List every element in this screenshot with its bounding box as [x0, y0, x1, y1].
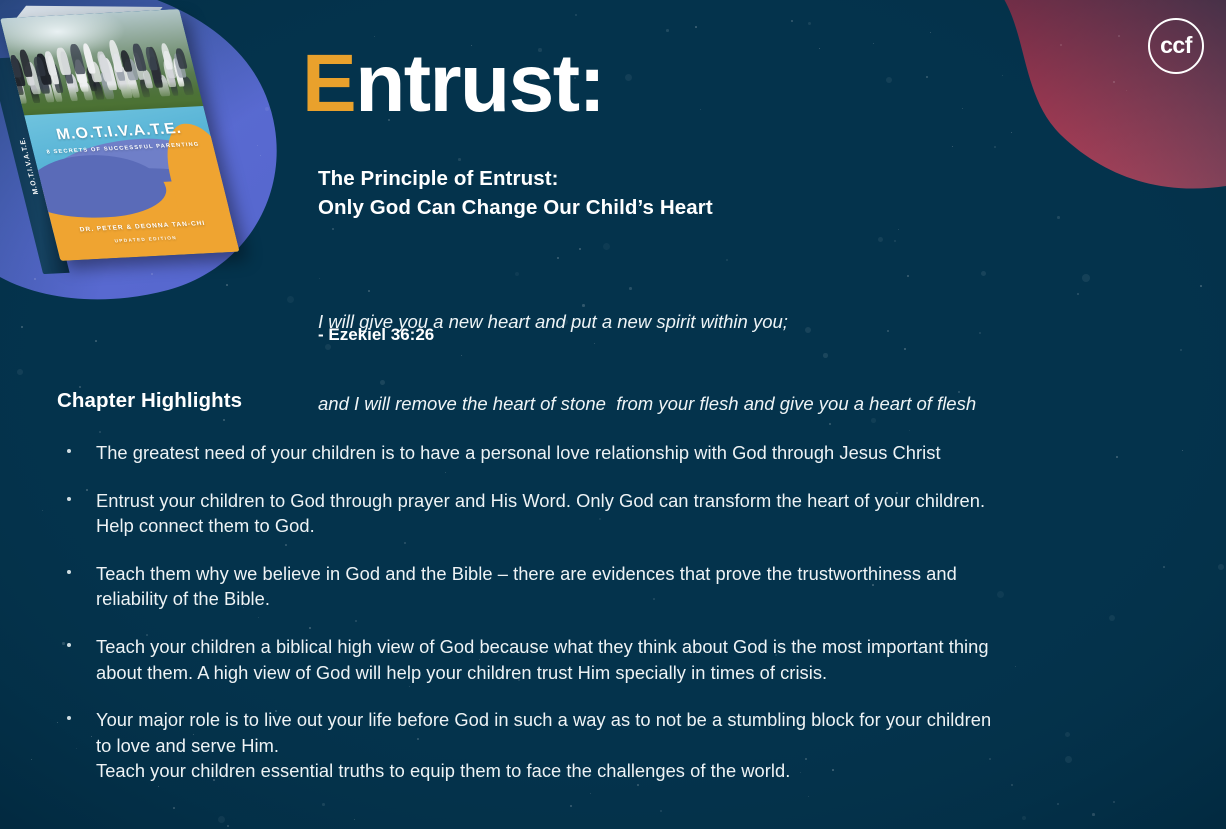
star-dot — [374, 36, 375, 37]
star-dot — [878, 237, 883, 242]
bullet-dot-icon — [67, 449, 71, 453]
list-item: Your major role is to live out your life… — [60, 707, 1180, 784]
star-dot — [354, 819, 355, 820]
star-dot — [21, 326, 23, 328]
slide-canvas: ccf M.O.T.I.V.A.T.E. M.O.T.I.V.A.T.E. 8 … — [0, 0, 1226, 829]
star-dot — [17, 369, 23, 375]
star-dot — [1118, 35, 1120, 37]
star-dot — [57, 722, 58, 723]
star-dot — [791, 20, 793, 22]
star-dot — [579, 248, 581, 250]
star-dot — [994, 146, 996, 148]
star-dot — [1057, 216, 1060, 219]
photo-figure — [159, 43, 173, 70]
star-dot — [287, 296, 294, 303]
star-dot — [1200, 285, 1202, 287]
star-dot — [1126, 90, 1127, 91]
star-dot — [173, 807, 175, 809]
star-dot — [819, 48, 820, 49]
list-item-line: about them. A high view of God will help… — [96, 660, 1180, 686]
star-dot — [226, 284, 228, 286]
verse-reference: - Ezekiel 36:26 — [318, 325, 434, 345]
list-item-line: to love and serve Him. — [96, 733, 1180, 759]
star-dot — [458, 158, 461, 161]
list-item: Entrust your children to God through pra… — [60, 488, 1180, 539]
star-dot — [99, 431, 101, 433]
list-item-line: Teach them why we believe in God and the… — [96, 561, 1180, 587]
title-accent-letter: E — [302, 38, 355, 129]
star-dot — [1002, 75, 1003, 76]
star-dot — [575, 14, 577, 16]
star-dot — [1082, 274, 1090, 282]
list-item: Teach your children a biblical high view… — [60, 634, 1180, 685]
star-dot — [886, 77, 892, 83]
star-dot — [1022, 816, 1026, 820]
star-dot — [666, 29, 669, 32]
star-dot — [695, 26, 697, 28]
book-cover-image: M.O.T.I.V.A.T.E. M.O.T.I.V.A.T.E. 8 SECR… — [0, 0, 273, 302]
star-dot — [31, 759, 32, 760]
star-dot — [981, 271, 986, 276]
list-item: The greatest need of your children is to… — [60, 440, 1180, 466]
subtitle-line-2: Only God Can Change Our Child’s Heart — [318, 193, 713, 222]
star-dot — [979, 332, 981, 334]
star-dot — [265, 107, 269, 111]
list-item-line: Entrust your children to God through pra… — [96, 488, 1180, 514]
chapter-highlights-list: The greatest need of your children is to… — [60, 440, 1180, 806]
star-dot — [332, 228, 334, 230]
star-dot — [808, 22, 811, 25]
photo-figure — [81, 82, 94, 100]
star-dot — [700, 109, 701, 110]
star-dot — [95, 340, 97, 342]
list-item-line: Help connect them to God. — [96, 513, 1180, 539]
family-photo-figures — [6, 35, 199, 100]
star-dot — [930, 32, 931, 33]
star-dot — [1113, 81, 1115, 83]
star-dot — [223, 419, 225, 421]
star-dot — [660, 810, 662, 812]
star-dot — [257, 145, 258, 146]
star-dot — [898, 229, 899, 230]
star-dot — [1077, 293, 1079, 295]
list-item-line: Teach your children a biblical high view… — [96, 634, 1180, 660]
star-dot — [603, 243, 610, 250]
photo-figure — [139, 79, 151, 97]
star-dot — [962, 108, 963, 109]
star-dot — [218, 816, 225, 823]
bullet-dot-icon — [67, 643, 71, 647]
star-dot — [1180, 349, 1182, 351]
subtitle-line-1: The Principle of Entrust: — [318, 164, 713, 193]
list-item-line: Teach your children essential truths to … — [96, 758, 1180, 784]
bullet-dot-icon — [67, 497, 71, 501]
star-dot — [873, 43, 874, 44]
star-dot — [926, 76, 928, 78]
star-dot — [1092, 813, 1095, 816]
list-item-line: reliability of the Bible. — [96, 586, 1180, 612]
star-dot — [625, 74, 632, 81]
photo-figure — [29, 84, 40, 102]
list-item: Teach them why we believe in God and the… — [60, 561, 1180, 612]
star-dot — [894, 240, 896, 242]
bullet-dot-icon — [67, 716, 71, 720]
subtitle-block: The Principle of Entrust: Only God Can C… — [318, 164, 713, 222]
section-title: Chapter Highlights — [57, 389, 242, 413]
bullet-dot-icon — [67, 570, 71, 574]
star-dot — [227, 825, 229, 827]
star-dot — [1011, 132, 1012, 133]
ccf-logo-text: ccf — [1160, 34, 1192, 57]
page-title: Entrust: — [302, 43, 604, 125]
ccf-logo: ccf — [1148, 18, 1204, 74]
star-dot — [952, 146, 953, 147]
star-dot — [34, 278, 36, 280]
star-dot — [1182, 450, 1183, 451]
star-dot — [42, 510, 43, 511]
title-remainder: ntrust: — [355, 38, 604, 129]
list-item-line: Your major role is to live out your life… — [96, 707, 1180, 733]
verse-line-2: and I will remove the heart of stone fro… — [318, 390, 976, 417]
star-dot — [79, 386, 81, 388]
star-dot — [260, 155, 261, 156]
star-dot — [1060, 44, 1062, 46]
star-dot — [1218, 564, 1224, 570]
list-item-line: The greatest need of your children is to… — [96, 440, 1180, 466]
